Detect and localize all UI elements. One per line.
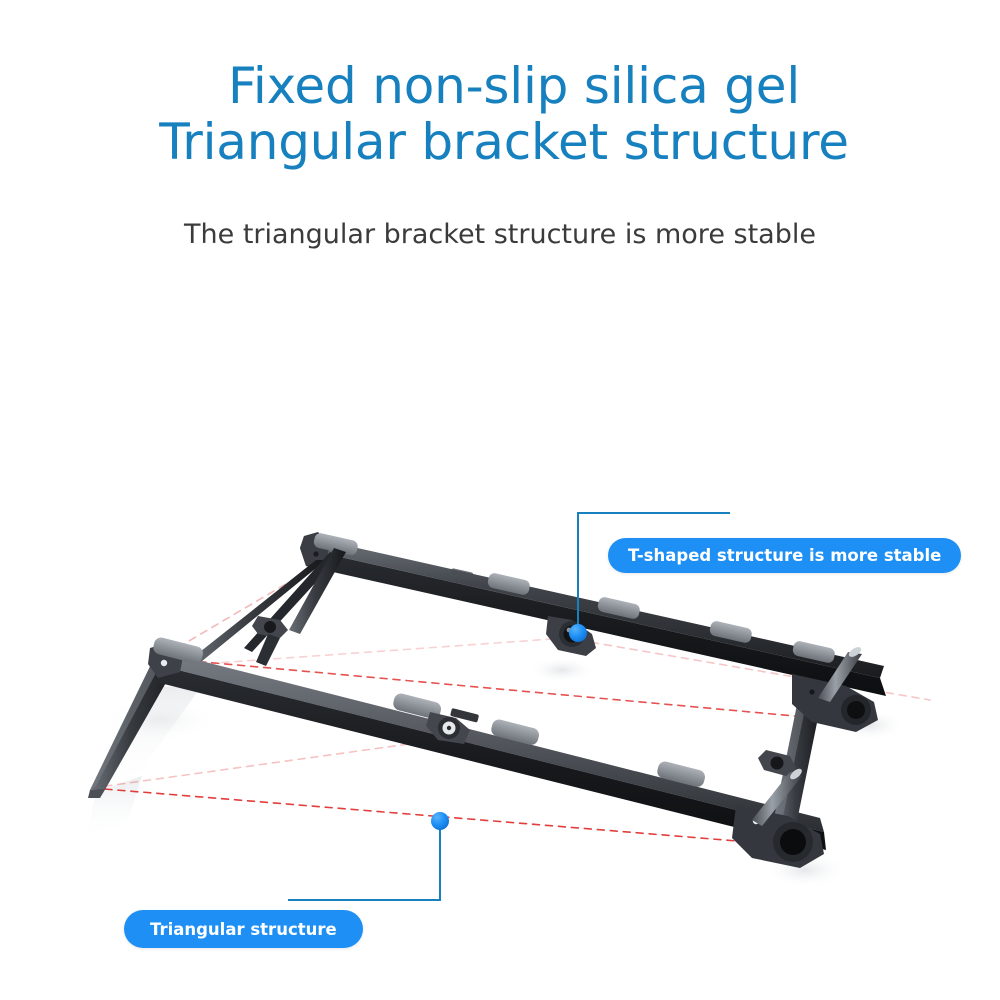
subtitle: The triangular bracket structure is more… [0, 218, 1000, 252]
front-rail [148, 636, 826, 850]
headline-line-2: Triangular bracket structure [0, 114, 1000, 170]
callout-pill-t-shaped: T-shaped structure is more stable [608, 538, 961, 573]
anchor-dot-t-shaped [569, 624, 587, 642]
leader-triangular [288, 821, 440, 900]
callout-pill-triangular: Triangular structure [124, 910, 363, 948]
slide-root: Fixed non-slip silica gel Triangular bra… [0, 0, 1000, 1000]
header: Fixed non-slip silica gel Triangular bra… [0, 58, 1000, 170]
cross-braces [186, 548, 346, 666]
headline-line-1: Fixed non-slip silica gel [0, 58, 1000, 114]
anchor-dot-triangular [431, 812, 449, 830]
